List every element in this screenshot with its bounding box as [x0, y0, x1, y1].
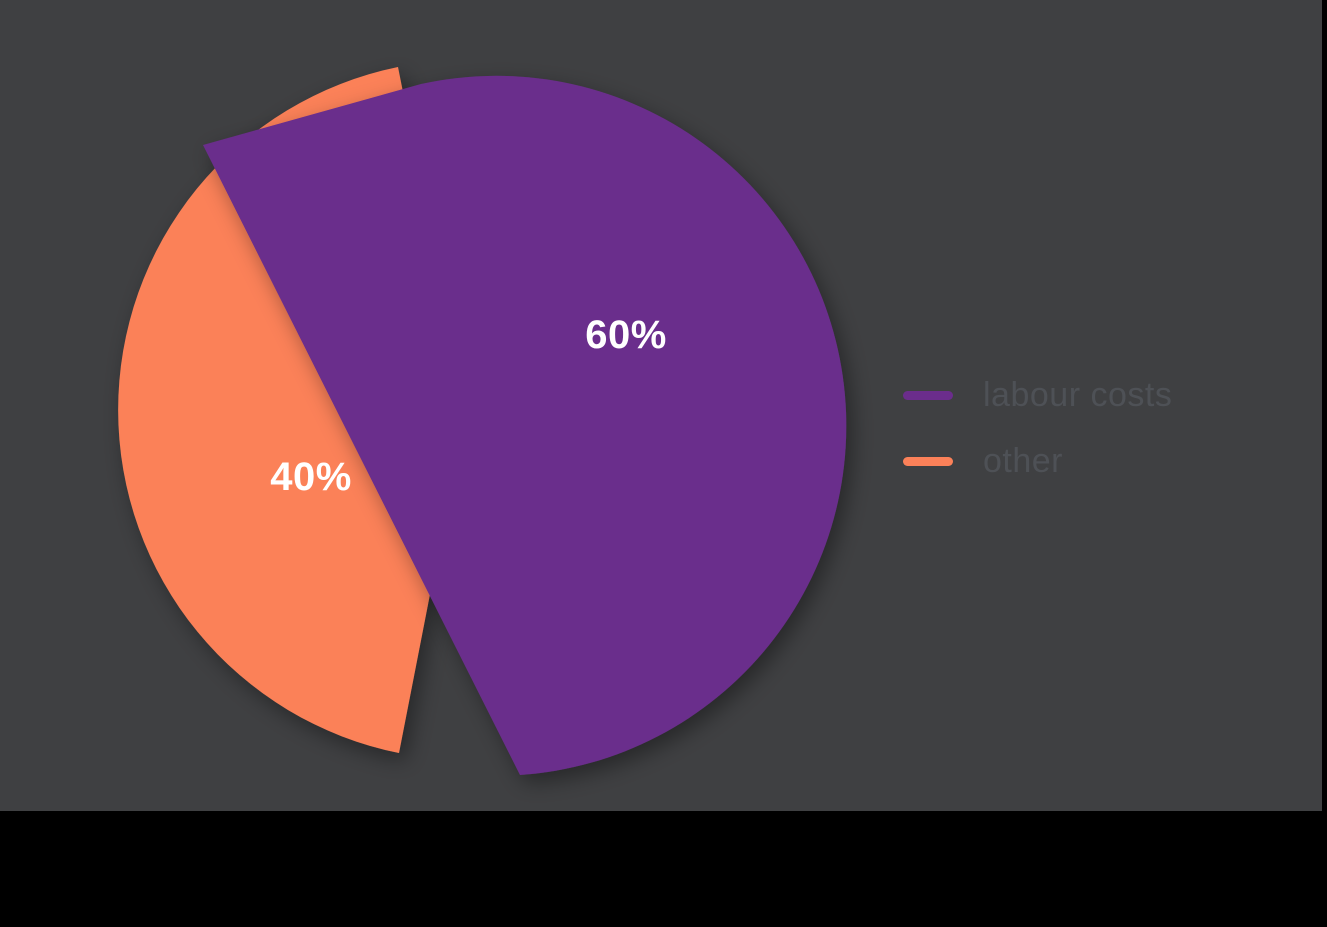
legend-label-other: other — [983, 442, 1063, 481]
bottom-letterbox-band — [0, 811, 1327, 927]
chart-canvas: 60% 40% labour costs other — [0, 0, 1322, 811]
legend-swatch-icon-other — [903, 457, 953, 466]
right-letterbox-band — [1322, 0, 1327, 811]
chart-legend: labour costs other — [903, 362, 1243, 494]
legend-item-other[interactable]: other — [903, 428, 1243, 494]
pie-label-labour-costs: 60% — [585, 313, 667, 357]
pie-label-other: 40% — [270, 455, 352, 499]
legend-item-labour-costs[interactable]: labour costs — [903, 362, 1243, 428]
legend-label-labour-costs: labour costs — [983, 376, 1172, 415]
legend-swatch-icon-labour-costs — [903, 391, 953, 400]
slide-stage: 60% 40% labour costs other — [0, 0, 1327, 927]
